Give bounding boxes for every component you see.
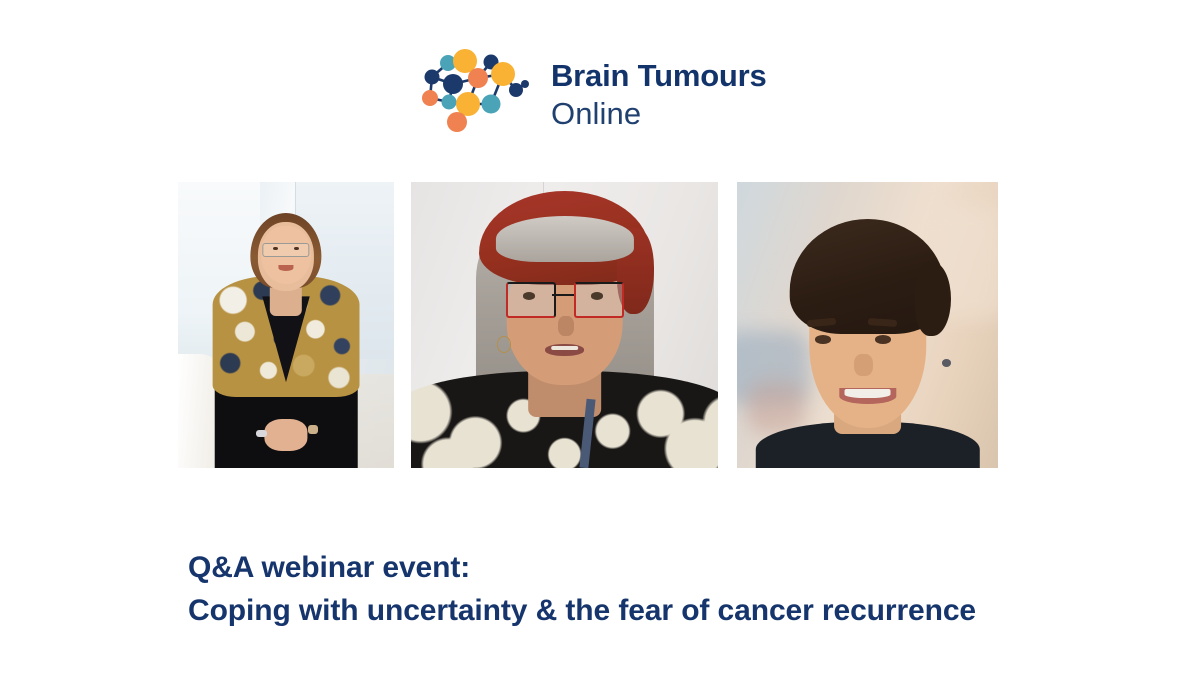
logo-subtitle: Online (551, 98, 767, 129)
logo-title: Brain Tumours (551, 60, 767, 91)
event-title-line-1: Q&A webinar event: (188, 551, 470, 584)
speaker-photo-2 (411, 182, 718, 468)
speaker-photo-2-image (411, 182, 718, 468)
logo-wordmark: Brain Tumours Online (551, 60, 767, 129)
speaker-photo-3-image (737, 182, 998, 468)
speaker-photo-1-image (178, 182, 394, 468)
event-title-line-2: Coping with uncertainty & the fear of ca… (188, 590, 976, 633)
speaker-photo-1 (178, 182, 394, 468)
speaker-photo-row (0, 182, 1200, 470)
event-title: Q&A webinar event: Coping with uncertain… (188, 547, 976, 632)
brand-logo[interactable]: Brain Tumours Online (415, 48, 767, 140)
brain-network-nodes-logo-mark (415, 48, 533, 140)
speaker-photo-3 (737, 182, 998, 468)
